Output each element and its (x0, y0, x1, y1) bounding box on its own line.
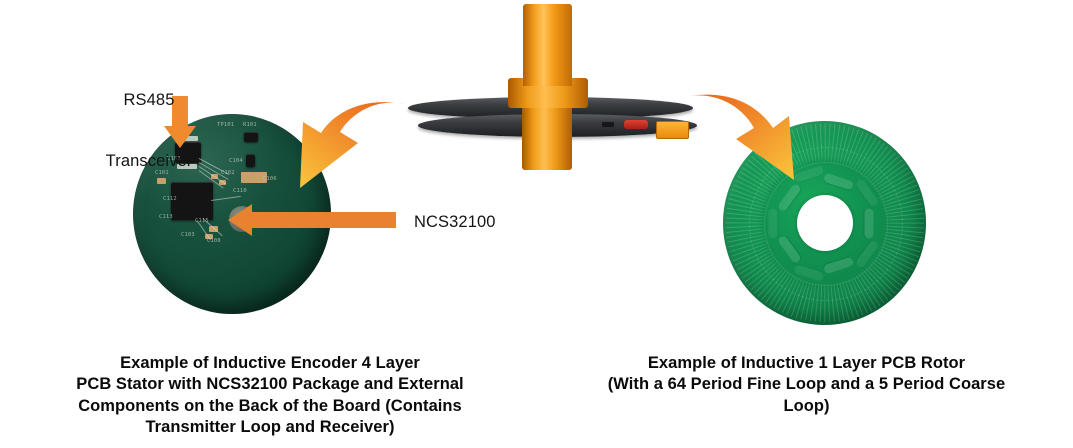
caption-right-line2: (With a 64 Period Fine Loop and a 5 Peri… (540, 374, 1073, 395)
caption-right-line1: Example of Inductive 1 Layer PCB Rotor (540, 353, 1073, 374)
caption-left-line2: PCB Stator with NCS32100 Package and Ext… (0, 374, 540, 395)
caption-left-line3: Components on the Back of the Board (Con… (0, 396, 540, 417)
arrow-assembly-to-stator (300, 102, 404, 188)
caption-left: Example of Inductive Encoder 4 Layer PCB… (0, 353, 540, 439)
caption-right-line3: Loop) (540, 396, 1073, 417)
label-rs485-line1: RS485 (84, 90, 214, 110)
caption-right: Example of Inductive 1 Layer PCB Rotor (… (540, 353, 1073, 417)
label-ncs32100: NCS32100 (414, 212, 554, 232)
arrow-assembly-to-rotor (690, 95, 794, 180)
arrow-ncs32100 (228, 204, 396, 236)
figure-canvas: TP101 R101 C101 C104 C102 C106 C110 C112… (0, 0, 1073, 448)
label-rs485-line2: Transceiver (84, 151, 214, 171)
caption-left-line1: Example of Inductive Encoder 4 Layer (0, 353, 540, 374)
caption-left-line4: Transmitter Loop and Receiver) (0, 417, 540, 438)
label-rs485-transceiver: RS485 Transceiver (84, 50, 214, 211)
